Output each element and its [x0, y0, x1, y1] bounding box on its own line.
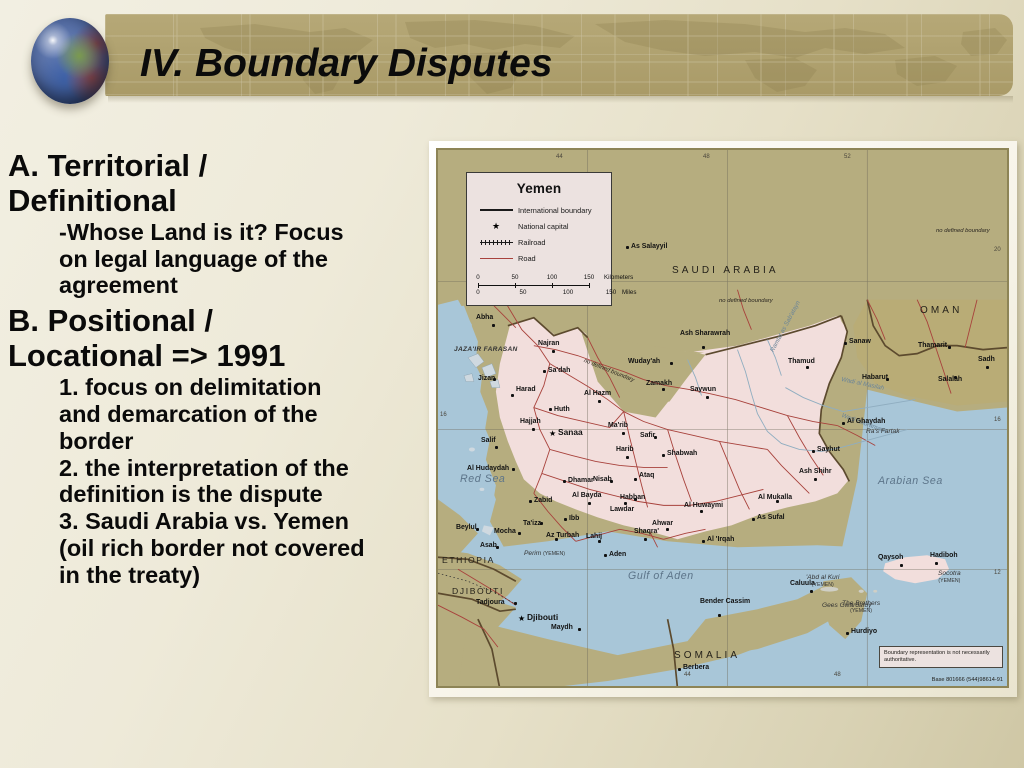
city-label: As Salayyil — [631, 243, 667, 250]
city-label: As Sufal — [757, 514, 785, 521]
city-label: Aden — [609, 551, 626, 558]
sea-label-red-sea: Red Sea — [460, 473, 505, 485]
outline-item: Definitional — [8, 185, 433, 218]
road-line-icon — [474, 258, 518, 259]
city-label: Qaysoh — [878, 554, 903, 561]
city-label: Sayhut — [817, 446, 840, 453]
legend-entry-label: National capital — [518, 222, 569, 231]
city-label: Salalah — [938, 376, 962, 383]
outline-item: A. Territorial / — [8, 150, 433, 183]
legend-entry-label: Railroad — [518, 238, 546, 247]
grid-tick-top: 52 — [844, 154, 851, 160]
header-band-shadow — [108, 96, 1013, 103]
city-label: Al Ghaydah — [847, 418, 885, 425]
outline-item: on legal language of the — [8, 247, 433, 273]
annotation-no-defined-boundary: no defined boundary — [936, 228, 990, 235]
city-label: Tadjoura — [476, 599, 505, 606]
legend-entry-label: Road — [518, 254, 536, 263]
capital-label-sanaa: Sanaa — [558, 427, 583, 437]
country-label-djibouti: DJIBOUTI — [452, 586, 504, 596]
map-base-number: Base 801666 (544)98614-91 — [932, 677, 1003, 683]
legend-entry-railroad: Railroad — [474, 235, 604, 249]
grid-tick-right: 20 — [994, 247, 1001, 253]
grid-tick-bottom: 48 — [834, 672, 841, 678]
city-label: Az Turbah — [546, 532, 572, 540]
city-label: Hurdiyo — [851, 628, 877, 635]
city-label: Harad — [516, 386, 536, 393]
solid-line-icon — [474, 209, 518, 211]
city-label: Jizan — [478, 375, 495, 382]
city-label: Nisab — [593, 476, 612, 483]
city-label: Al Huwaymi — [684, 502, 714, 510]
page-title: IV. Boundary Disputes — [140, 42, 553, 86]
city-label: Zabid — [534, 497, 552, 504]
country-label-ethiopia: ETHIOPIA — [442, 555, 495, 565]
city-label: Ma'rib — [608, 422, 628, 429]
city-label: Najran — [538, 340, 559, 347]
city-label: Beylul — [456, 524, 477, 531]
capital-marker-sanaa: ★ — [549, 430, 556, 438]
island-label-jazair-farasan: JAZA'IR FARASAN — [454, 346, 510, 354]
city-label: Habarut — [862, 374, 888, 381]
legend-entry-label: International boundary — [518, 206, 592, 215]
city-label: Thamarit — [918, 342, 947, 349]
city-label: Thamud — [788, 358, 815, 365]
island-label-socotra: Socotra(YEMEN) — [938, 570, 961, 584]
city-label: Al Hudaydah — [467, 465, 509, 472]
city-label: Sa'dah — [548, 367, 570, 374]
legend-entry-national-capital: ★ National capital — [474, 219, 604, 233]
country-label-oman: OMAN — [920, 305, 962, 316]
outline-item: definition is the dispute — [8, 482, 433, 508]
city-label: Ash Shihr — [799, 468, 825, 476]
city-label: Huth — [554, 406, 570, 413]
country-label-saudi-arabia: SAUDI ARABIA — [672, 265, 779, 276]
outline-item: Locational => 1991 — [8, 340, 433, 373]
outline-item: 3. Saudi Arabia vs. Yemen — [8, 509, 433, 535]
legend-entry-road: Road — [474, 251, 604, 265]
scale-mi-labels: 0 50 100 150 Miles — [478, 289, 604, 297]
city-label: Shabwah — [667, 450, 697, 457]
city-label: Sadh — [978, 356, 995, 363]
sea-label-arabian-sea: Arabian Sea — [878, 475, 943, 487]
city-label: Zamakh — [646, 380, 672, 387]
country-label-somalia: SOMALIA — [674, 650, 740, 661]
scale-ruler — [478, 283, 590, 288]
globe-icon — [31, 18, 109, 104]
grid-tick-right: 12 — [994, 570, 1001, 576]
city-label: Dhamar — [568, 477, 594, 484]
sea-label-gulf-of-aden: Gulf of Aden — [628, 570, 694, 582]
city-label: Ibb — [569, 515, 579, 522]
outline-item: 1. focus on delimitation — [8, 375, 433, 401]
physical-label-ras-fartak: Ra's Fartak — [866, 428, 900, 435]
grid-tick-bottom: 44 — [684, 672, 691, 678]
city-label: Hajjah — [520, 418, 541, 425]
city-label: Berbera — [683, 664, 709, 671]
city-label: Ahwar — [652, 520, 673, 527]
legend-entry-international-boundary: International boundary — [474, 203, 604, 217]
grid-tick-top: 48 — [703, 154, 710, 160]
capital-label-djibouti: Djibouti — [527, 612, 558, 622]
city-label: Al Bayda — [572, 492, 602, 499]
city-label: Harib — [616, 446, 634, 453]
city-label: Ash Sharawrah — [680, 330, 716, 338]
city-label: Al 'Irqah — [707, 536, 734, 543]
city-label: Safir — [640, 432, 655, 439]
map-frame: Yemen International boundary ★ National … — [436, 148, 1009, 688]
city-label: Shaqra' — [634, 528, 659, 535]
outline-item: -Whose Land is it? Focus — [8, 220, 433, 246]
city-label: Mocha — [494, 528, 516, 535]
scale-km-labels: 0 50 100 150 Kilometers — [478, 274, 604, 282]
outline-item: agreement — [8, 273, 433, 299]
map-disclaimer: Boundary representation is not necessari… — [879, 646, 1003, 668]
city-label: Lawdar — [610, 506, 634, 513]
legend-title: Yemen — [474, 181, 604, 196]
map-scale-bar: 0 50 100 150 Kilometers 0 50 100 150 Mil… — [474, 274, 604, 297]
yemen-map-image: Yemen International boundary ★ National … — [429, 141, 1017, 697]
outline-item: and demarcation of the — [8, 402, 433, 428]
city-label: Maydh — [551, 624, 573, 631]
city-label: Habban — [620, 494, 645, 501]
city-label: Saywun — [690, 386, 716, 393]
city-label: Al Hazm — [584, 390, 611, 397]
railroad-line-icon — [474, 240, 518, 245]
outline-item: in the treaty) — [8, 563, 433, 589]
city-label: Bender Cassim — [700, 598, 732, 606]
city-label: Asab — [480, 542, 497, 549]
capital-marker-djibouti: ★ — [518, 615, 525, 623]
city-label: Wuday'ah — [628, 358, 660, 365]
outline-text-block: A. Territorial / Definitional -Whose Lan… — [8, 150, 433, 590]
map-legend: Yemen International boundary ★ National … — [466, 172, 612, 306]
city-label: Ataq — [639, 472, 654, 479]
city-label: Lahij — [586, 533, 602, 540]
city-label: Sanaw — [849, 338, 871, 345]
grid-tick-top: 44 — [556, 154, 563, 160]
island-label-perim: Perim (YEMEN) — [524, 550, 565, 557]
island-label-the-brothers: The Brothers(YEMEN) — [842, 600, 880, 614]
grid-tick-right: 16 — [994, 417, 1001, 423]
outline-item: 2. the interpretation of the — [8, 456, 433, 482]
city-label: Caluula — [790, 580, 815, 587]
city-label: Al Mukalla — [758, 494, 792, 501]
outline-item: B. Positional / — [8, 305, 433, 338]
outline-item: (oil rich border not covered — [8, 536, 433, 562]
outline-item: border — [8, 429, 433, 455]
city-label: Abha — [476, 314, 493, 321]
grid-tick-left: 16 — [440, 412, 447, 418]
city-label: Ta'izz — [523, 520, 541, 527]
city-label: Salif — [481, 437, 496, 444]
star-icon: ★ — [474, 222, 518, 231]
city-label: Hadiboh — [930, 552, 958, 559]
